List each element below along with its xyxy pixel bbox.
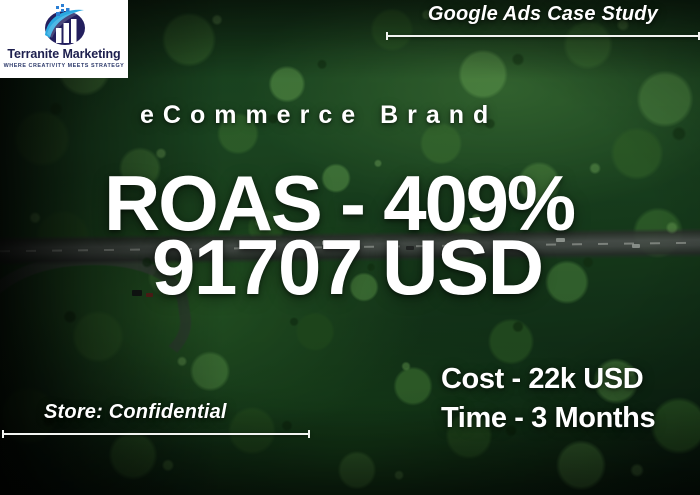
headline-revenue: 91707 USD — [152, 236, 574, 300]
metric-time: Time - 3 Months — [441, 399, 655, 438]
case-study-poster: Terranite Marketing WHERE CREATIVITY MEE… — [0, 0, 700, 495]
headline-block: ROAS - 409% 91707 USD — [104, 172, 574, 300]
store-label: Store: Confidential — [44, 401, 227, 424]
metrics-block: Cost - 22k USD Time - 3 Months — [441, 360, 655, 437]
brand-tagline: WHERE CREATIVITY MEETS STRATEGY — [4, 64, 125, 69]
poster-content: Terranite Marketing WHERE CREATIVITY MEE… — [0, 0, 700, 495]
brand-name: Terranite Marketing — [7, 48, 120, 61]
brand-logo-card[interactable]: Terranite Marketing WHERE CREATIVITY MEE… — [0, 0, 128, 78]
metric-cost: Cost - 22k USD — [441, 360, 655, 399]
case-study-eyebrow: Google Ads Case Study — [428, 3, 658, 26]
terranite-logo-icon — [34, 3, 94, 47]
store-underline-rule — [2, 433, 310, 435]
eyebrow-underline-rule — [386, 35, 700, 37]
client-type-subtitle: eCommerce Brand — [140, 101, 497, 130]
